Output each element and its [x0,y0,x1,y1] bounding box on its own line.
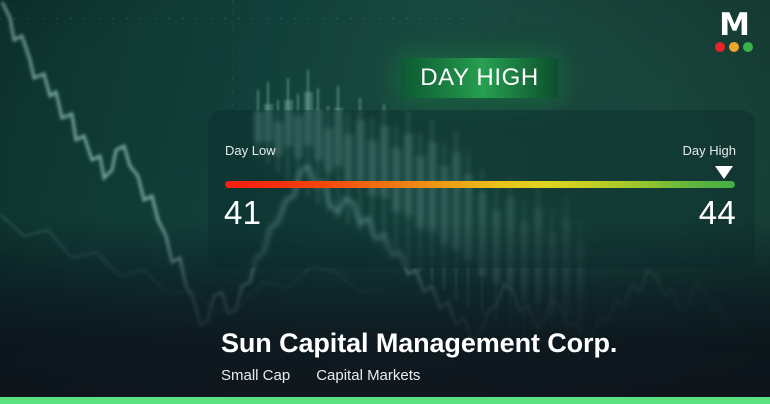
day-range-gradient-bar [225,181,735,188]
range-labels: Day Low Day High [225,143,736,158]
day-low-value: 41 [224,194,261,232]
current-price-marker [715,166,733,179]
day-range-card: Day Low Day High 41 44 [208,110,755,268]
amber-dot [729,42,739,52]
company-tags: Small Cap Capital Markets [221,367,750,384]
company-info: Sun Capital Management Corp. Small Cap C… [221,327,750,384]
day-low-label: Day Low [225,143,276,158]
tag-market-cap: Small Cap [221,367,290,384]
bottom-accent-bar [0,397,770,404]
stock-day-high-card: M DAY HIGH Day Low Day High 41 44 Sun Ca… [0,0,770,404]
logo-dots [710,42,758,52]
status-badge: DAY HIGH [401,58,558,98]
green-dot [743,42,753,52]
tag-sector: Capital Markets [316,367,420,384]
status-badge-label: DAY HIGH [420,64,539,92]
day-high-label: Day High [683,143,736,158]
logo-letter: M [710,10,758,40]
red-dot [715,42,725,52]
brand-logo[interactable]: M [710,10,758,56]
day-high-value: 44 [699,194,736,232]
company-name: Sun Capital Management Corp. [221,327,750,359]
range-values: 41 44 [224,194,736,232]
